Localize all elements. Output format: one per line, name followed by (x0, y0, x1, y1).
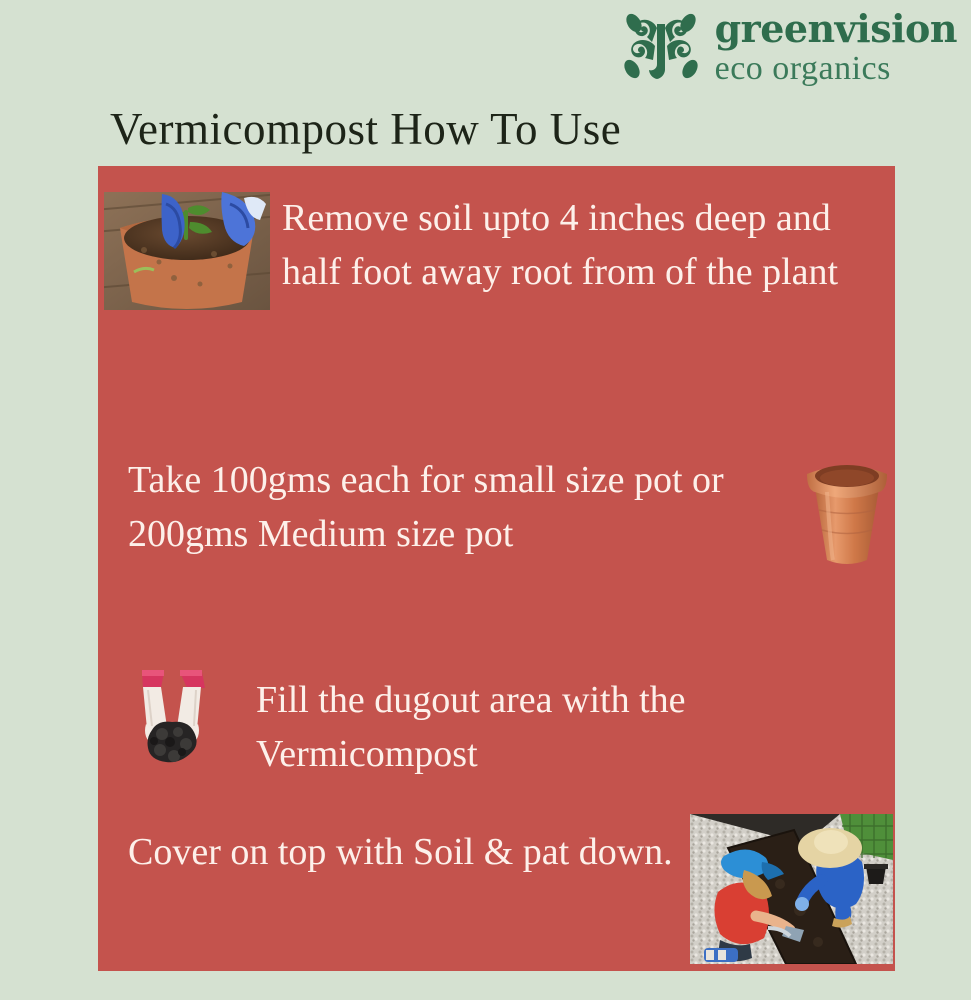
brand-name: greenvision (715, 10, 957, 48)
instruction-step-4-text: Cover on top with Soil & pat down. (128, 826, 688, 880)
instruction-step-3-text: Fill the dugout area with the Vermicompo… (218, 666, 826, 782)
terracotta-flower-pot-photo (801, 454, 893, 574)
gardeners-covering-soil-bed-photo (690, 814, 893, 964)
gloved-hands-planting-seedling-photo (104, 192, 270, 310)
instruction-step-1-text: Remove soil upto 4 inches deep and half … (270, 192, 884, 300)
brand-wordmark: greenvision eco organics (715, 8, 957, 86)
instruction-step-1: Remove soil upto 4 inches deep and half … (104, 192, 884, 310)
instruction-step-2: Take 100gms each for small size pot or 2… (128, 454, 893, 574)
page-title: Vermicompost How To Use (110, 103, 621, 155)
plant-flourish-icon (619, 6, 703, 88)
instruction-step-4: Cover on top with Soil & pat down. (128, 826, 893, 964)
instructions-panel: Remove soil upto 4 inches deep and half … (98, 166, 895, 971)
instruction-step-2-text: Take 100gms each for small size pot or 2… (128, 454, 768, 562)
brand-tagline: eco organics (715, 52, 957, 86)
brand-logo: greenvision eco organics (619, 6, 957, 88)
hands-holding-vermicompost-photo (126, 666, 218, 769)
instruction-step-3: Fill the dugout area with the Vermicompo… (126, 666, 886, 782)
